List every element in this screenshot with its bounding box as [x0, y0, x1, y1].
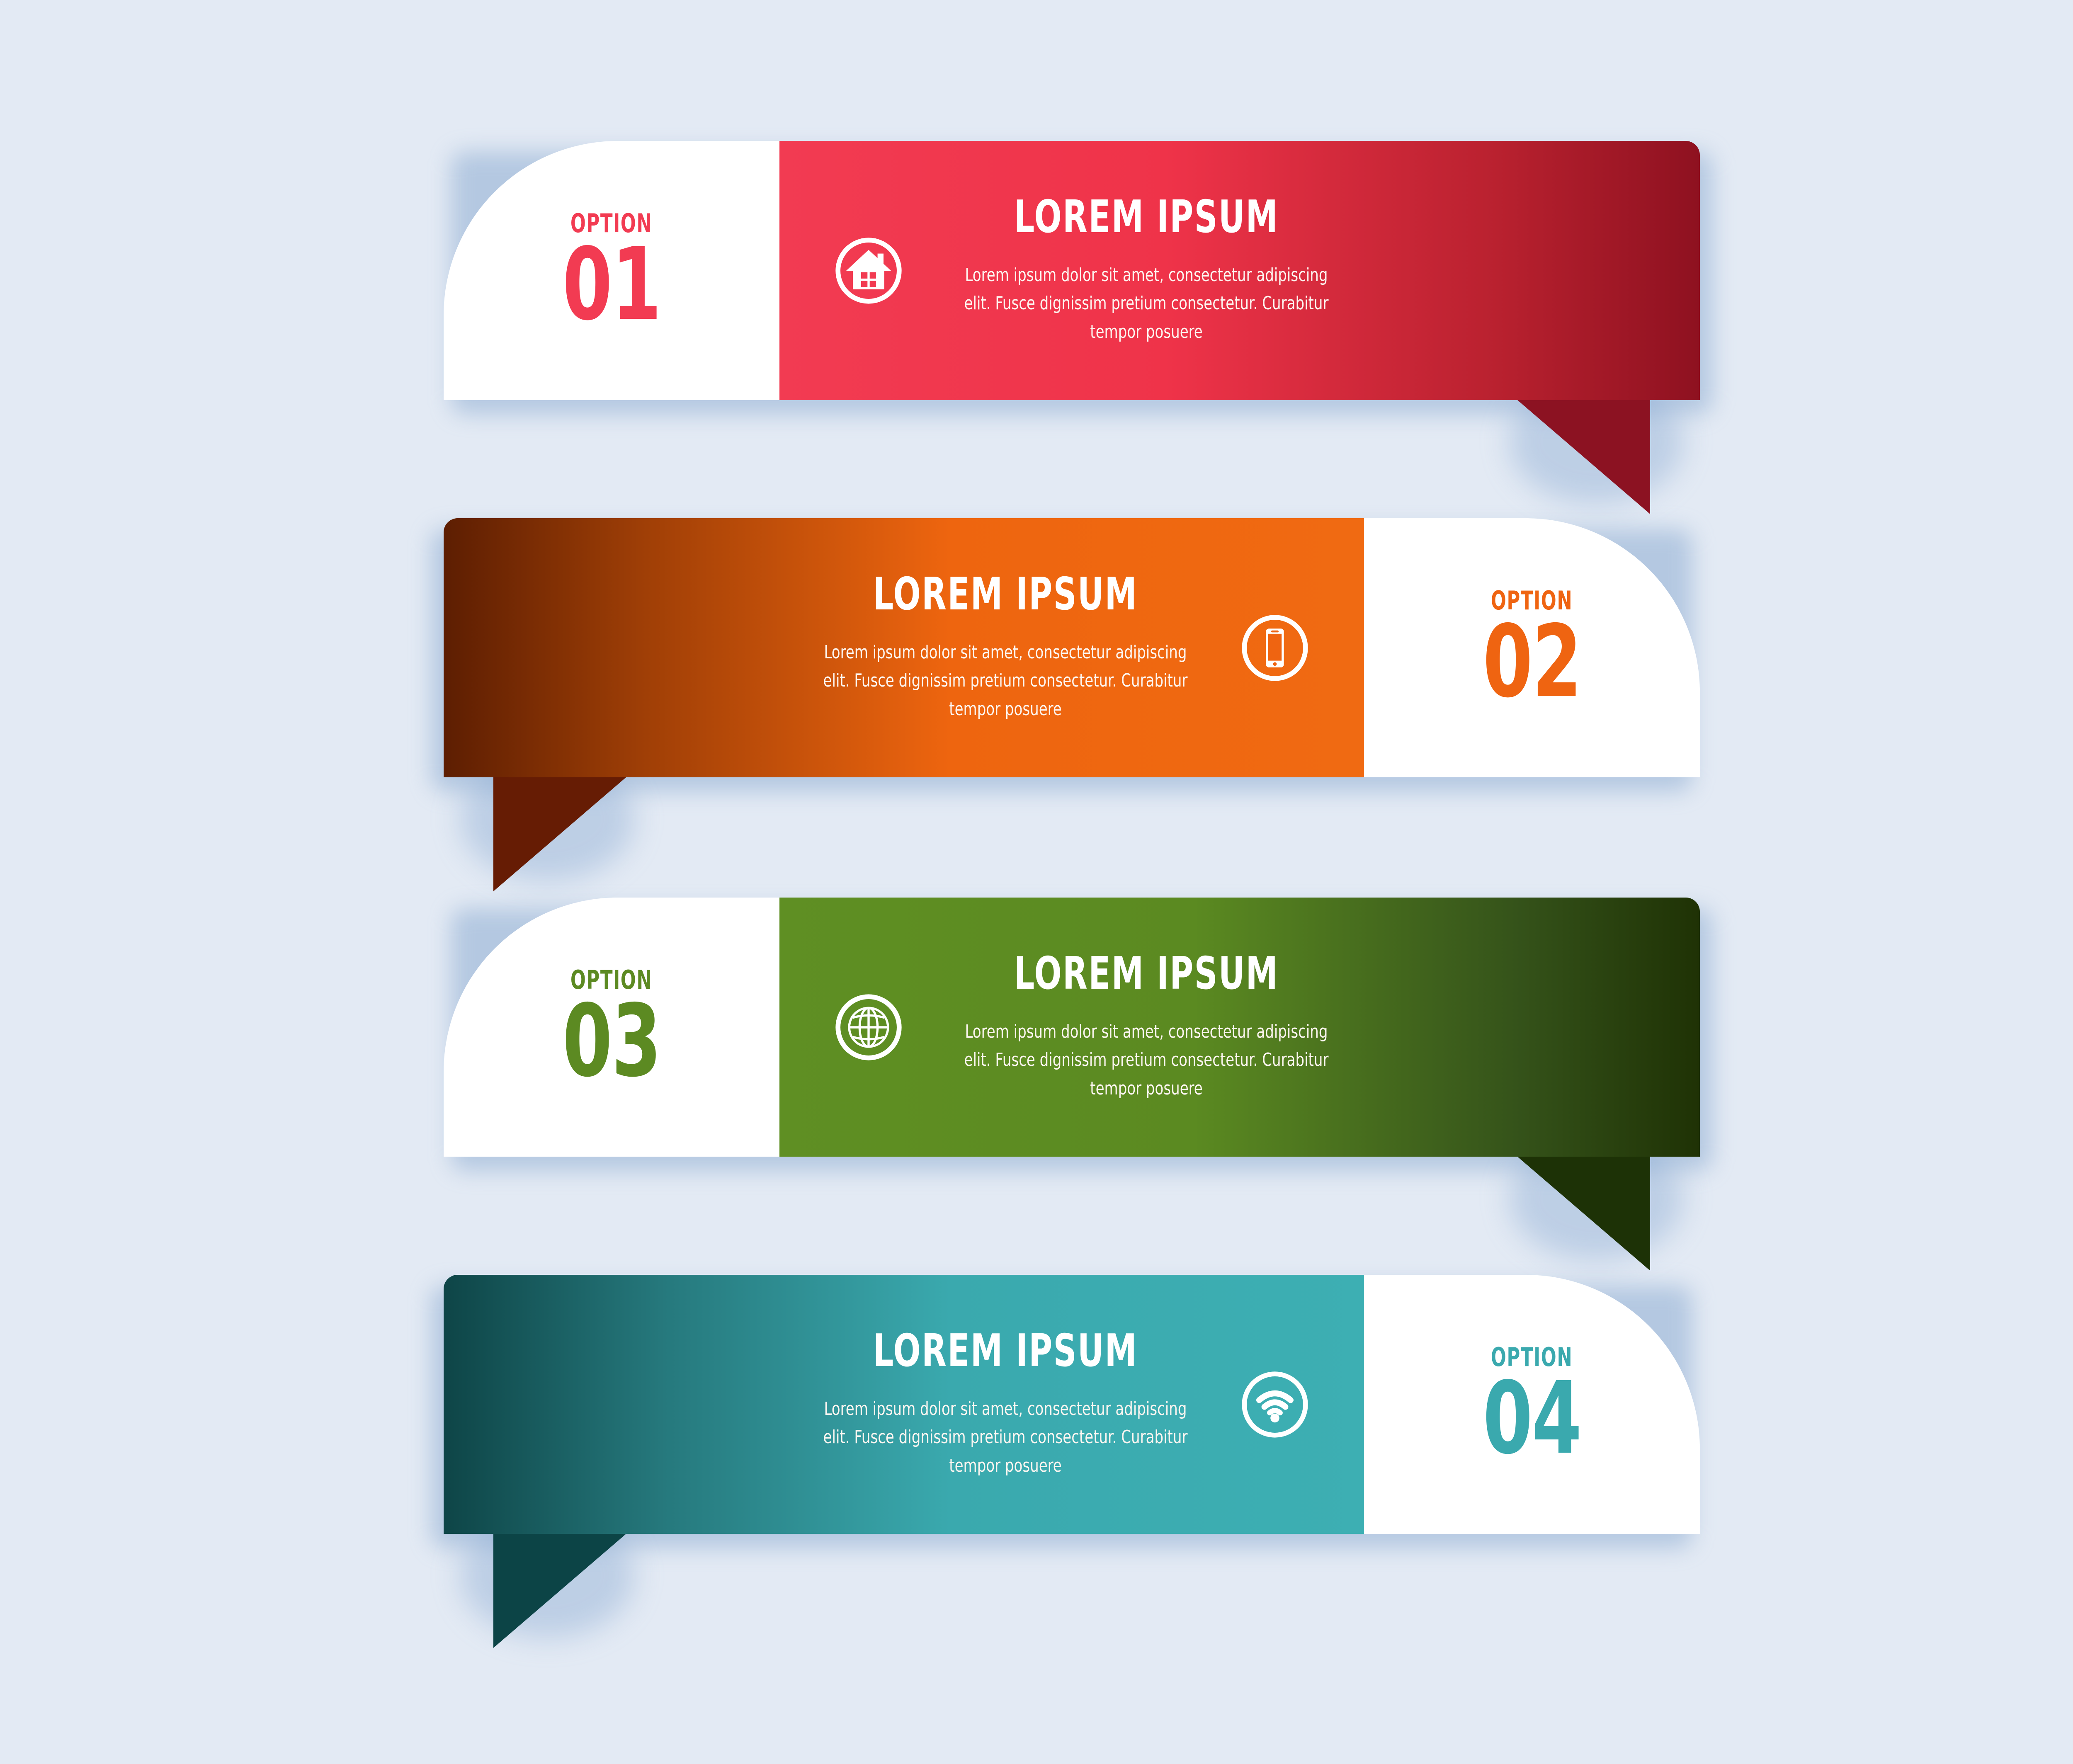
- number-panel-04: OPTION 04: [1364, 1275, 1700, 1534]
- option-number: 04: [1483, 1373, 1581, 1464]
- banner-option-04[interactable]: OPTION 04 LORE: [444, 1275, 1700, 1534]
- content-panel-02: LOREM IPSUM Lorem ipsum dolor sit amet, …: [444, 518, 1364, 777]
- number-panel-01: OPTION 01: [444, 141, 779, 400]
- banner-title: LOREM IPSUM: [835, 572, 1176, 617]
- speech-tail: [493, 1534, 626, 1648]
- mobile-phone-icon: [1236, 609, 1314, 687]
- banner-description: Lorem ipsum dolor sit amet, consectetur …: [963, 1018, 1330, 1103]
- content-panel-04: LOREM IPSUM Lorem ipsum dolor sit amet, …: [444, 1275, 1364, 1534]
- speech-tail: [493, 777, 626, 891]
- speech-tail: [1517, 1157, 1650, 1271]
- banner-description: Lorem ipsum dolor sit amet, consectetur …: [963, 261, 1330, 346]
- home-icon: [829, 231, 908, 310]
- option-number: 02: [1483, 616, 1581, 708]
- content-panel-01: LOREM IPSUM Lorem ipsum dolor sit amet, …: [779, 141, 1700, 400]
- number-panel-02: OPTION 02: [1364, 518, 1700, 777]
- banner-option-02[interactable]: OPTION 02 LORE: [444, 518, 1700, 777]
- wifi-icon: [1236, 1365, 1314, 1444]
- speech-tail: [1517, 400, 1650, 514]
- banner-description: Lorem ipsum dolor sit amet, consectetur …: [822, 1395, 1189, 1480]
- banner-option-03[interactable]: OPTION 03: [444, 898, 1700, 1157]
- content-panel-03: LOREM IPSUM Lorem ipsum dolor sit amet, …: [779, 898, 1700, 1157]
- number-panel-03: OPTION 03: [444, 898, 779, 1157]
- globe-icon: [829, 988, 908, 1067]
- banner-title: LOREM IPSUM: [976, 195, 1317, 240]
- banner-title: LOREM IPSUM: [976, 951, 1317, 996]
- banner-title: LOREM IPSUM: [835, 1329, 1176, 1373]
- banner-description: Lorem ipsum dolor sit amet, consectetur …: [822, 638, 1189, 723]
- option-number: 01: [562, 239, 660, 330]
- banner-option-01[interactable]: OPTION 01: [444, 141, 1700, 400]
- option-number: 03: [562, 995, 660, 1087]
- infographic-canvas: OPTION 01: [0, 0, 2073, 1764]
